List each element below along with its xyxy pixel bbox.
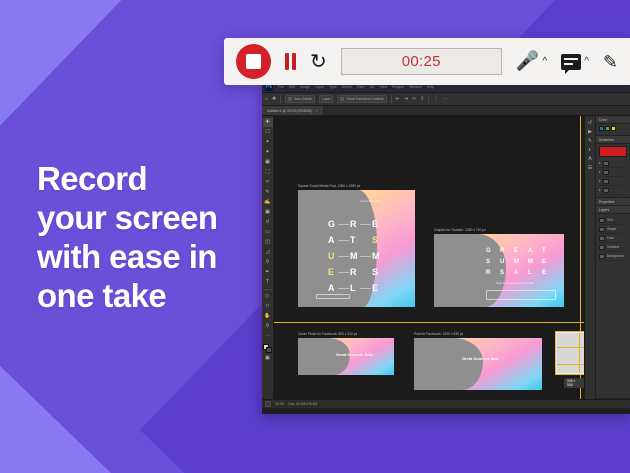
menu-image[interactable]: Image <box>300 85 310 89</box>
marquee-tool[interactable]: ☐ <box>263 128 273 137</box>
ab2-line2-s: S <box>486 259 490 265</box>
pause-bar-left <box>285 53 289 70</box>
layer-row[interactable]: Face <box>599 234 627 243</box>
options-divider-2 <box>391 95 392 103</box>
layer-thumbnail <box>599 218 605 223</box>
menu-layer[interactable]: Layer <box>315 85 324 89</box>
screen-capture-icon[interactable] <box>561 54 581 70</box>
ab1-line5-l: L <box>350 283 356 293</box>
swatch-group-row[interactable]: ▸ <box>599 177 627 186</box>
restart-recording-icon[interactable]: ↻ <box>310 52 327 72</box>
selection-guide-horizontal-2 <box>557 364 584 365</box>
artboard-cta-chip <box>486 290 556 300</box>
panel-rail[interactable]: ↺ ▶ ✎ ◐ A ☰ <box>585 116 596 399</box>
letter-connector <box>338 272 349 273</box>
layer-name: Shape <box>607 227 616 231</box>
shape-tool[interactable]: □ <box>263 302 273 311</box>
letter-connector <box>360 288 371 289</box>
selection-guide-horizontal <box>557 347 584 348</box>
swatch[interactable] <box>611 126 616 131</box>
headline-line-1: Record <box>37 160 218 199</box>
close-icon[interactable]: × <box>316 109 318 113</box>
layer-thumbnail <box>599 236 605 241</box>
ab2-line1-t: T <box>542 248 546 254</box>
layer-thumbnail <box>599 254 605 259</box>
annotation-pen-icon[interactable]: ✎ <box>603 53 618 71</box>
layer-row[interactable]: Shape <box>599 225 627 234</box>
lasso-tool[interactable]: ⚭ <box>263 138 273 147</box>
panel-dock[interactable]: ↺ ▶ ✎ ◐ A ☰ Color Swatches <box>584 116 630 399</box>
ab1-line3-m1: M <box>350 251 358 261</box>
auto-select-value[interactable]: Layer <box>319 95 333 103</box>
artboard-caption: Great Summer Sale <box>336 352 373 357</box>
swatch-group-row[interactable]: ▸ <box>599 186 627 195</box>
artboard-caption: Shop the summer collection now <box>496 282 533 285</box>
swatch-group-row[interactable]: ▸ <box>599 168 627 177</box>
layers-panel-title[interactable]: Layers <box>596 206 630 214</box>
letter-connector <box>338 288 349 289</box>
chevron-right-icon[interactable]: ▸ <box>599 188 601 192</box>
hand-tool[interactable]: ✋ <box>263 312 273 321</box>
chevron-right-icon[interactable]: ▸ <box>599 170 601 174</box>
artboard-cta-chip <box>316 294 350 299</box>
panel-stack[interactable]: Color Swatches ▸ ▸ <box>596 116 630 399</box>
eraser-tool[interactable]: ▭ <box>263 228 273 237</box>
ab2-line3-r: R <box>486 270 490 276</box>
character-icon[interactable]: A <box>588 156 591 162</box>
background-swatch[interactable] <box>266 347 272 353</box>
brush-tool[interactable]: ✍ <box>263 198 273 207</box>
ab2-line2-e: E <box>542 259 546 265</box>
recording-timer: 00:25 <box>341 48 502 75</box>
artboard-label-youtube: Graphic for Youtube: 1280 x 720 px <box>434 228 486 232</box>
ab1-line4-e: E <box>328 267 334 277</box>
letter-connector <box>338 256 349 257</box>
layer-name: Face <box>607 236 614 240</box>
home-icon[interactable]: ⌂ <box>265 96 268 102</box>
ab2-line2-m2: M <box>528 259 533 265</box>
clone-stamp-tool[interactable]: ▣ <box>263 208 273 217</box>
selected-artboard-size-badge: 508 x 508 <box>564 378 584 388</box>
menu-file[interactable]: File <box>278 85 284 89</box>
history-brush-tool[interactable]: ↺ <box>263 218 273 227</box>
ab1-line3-u: U <box>328 251 335 261</box>
ab2-line1-a: A <box>528 248 532 254</box>
move-tool-icon[interactable]: ✚ <box>272 96 276 102</box>
artboard-youtube[interactable]: G R E A T S U M M E R S A L E Shop the s… <box>434 234 564 307</box>
ab2-line3-s: S <box>500 270 504 276</box>
artboard-selected-thumbnail[interactable] <box>556 332 584 374</box>
actions-icon[interactable]: ▶ <box>588 129 592 135</box>
swatch-thumbnail <box>603 179 609 184</box>
crop-tool[interactable]: ▣ <box>263 158 273 167</box>
headline-line-4: one take <box>37 277 218 316</box>
checkbox-icon[interactable] <box>288 97 292 101</box>
layer-name: Text <box>607 218 613 222</box>
align-center-icon[interactable]: ⇥ <box>404 96 408 102</box>
swatches-panel-body[interactable]: ▸ ▸ ▸ ▸ <box>596 144 630 198</box>
swatch-thumbnail <box>603 188 609 193</box>
ab1-line3-m2: M <box>372 251 380 261</box>
ab1-line2-s: S <box>372 235 378 245</box>
ab1-line5-e: E <box>372 283 378 293</box>
stop-recording-button[interactable] <box>236 44 271 79</box>
artboard-label-fb-cover: Cover Photo for Facebook: 820 x 312 px <box>298 332 357 336</box>
layer-thumbnail <box>599 245 605 250</box>
color-panel-body[interactable] <box>596 124 630 136</box>
swatch-row[interactable] <box>599 126 627 131</box>
screen-tail <box>565 70 569 74</box>
auto-select-toggle[interactable]: Auto-Select: <box>285 95 315 103</box>
options-divider-3 <box>428 95 429 103</box>
menu-select[interactable]: Select <box>342 85 352 89</box>
dodge-tool[interactable]: ⚲ <box>263 258 273 267</box>
screen-recorder-toolbar[interactable]: ↻ 00:25 🎤 ^ ^ ✎ <box>224 38 630 85</box>
document-size: Doc: 44.2M/176.4M <box>288 402 317 406</box>
artboard-fb-post[interactable]: Great Summer Sale <box>414 338 542 390</box>
stop-square-icon <box>246 54 261 69</box>
pen-tool[interactable]: ✒ <box>263 268 273 277</box>
ab1-line2-t: T <box>350 235 356 245</box>
headline-line-3: with ease in <box>37 238 218 277</box>
ab1-line1-g: G <box>328 219 335 229</box>
ab2-line2-u: U <box>500 259 504 265</box>
zoom-level[interactable]: 33.3% <box>275 402 284 406</box>
headline: Record your screen with ease in one take <box>37 160 218 316</box>
swatch-group-row[interactable]: ▸ <box>599 159 627 168</box>
artboard-fb-cover[interactable]: Great Summer Sale <box>298 338 394 375</box>
layer-name: Gradient <box>607 245 619 249</box>
letter-connector <box>338 240 349 241</box>
pause-recording-button[interactable] <box>285 53 296 70</box>
auto-select-label: Auto-Select: <box>294 97 312 101</box>
frame-tool[interactable]: ⛶ <box>263 168 273 177</box>
letter-connector <box>338 224 349 225</box>
layer-row[interactable]: Text <box>599 216 627 225</box>
microphone-control[interactable]: 🎤 ^ <box>516 52 547 71</box>
align-top-icon[interactable]: ⇧ <box>420 96 424 102</box>
workspace: ✚ ☐ ⚭ ✦ ▣ ⛶ ✂ ✎ ✍ ▣ ↺ ▭ ◫ ◿ ⚲ ✒ T ▷ □ ✋ … <box>262 116 630 399</box>
quick-mask-icon[interactable]: ▣ <box>263 354 273 363</box>
move-tool[interactable]: ✚ <box>263 118 273 127</box>
menu-view[interactable]: View <box>379 85 387 89</box>
more-tools-icon[interactable]: ⋯ <box>263 332 273 341</box>
options-bar[interactable]: ⌂ ✚ Auto-Select: Layer Show Transform Co… <box>262 93 630 106</box>
ab2-line3-a: A <box>514 270 518 276</box>
swatch-thumbnail <box>603 161 609 166</box>
ab2-line1-r: R <box>500 248 504 254</box>
history-icon[interactable]: ↺ <box>588 120 592 126</box>
menu-plugins[interactable]: Plugins <box>392 85 404 89</box>
blur-tool[interactable]: ◿ <box>263 248 273 257</box>
microphone-icon[interactable]: 🎤 <box>516 52 540 71</box>
more-options-icon[interactable]: ⋯ <box>442 96 447 102</box>
checkbox-icon[interactable] <box>340 97 344 101</box>
menu-type[interactable]: Type <box>329 85 337 89</box>
ab1-line5-a: A <box>328 283 335 293</box>
chevron-right-icon[interactable]: ▸ <box>599 161 601 165</box>
chevron-up-icon[interactable]: ^ <box>584 57 589 67</box>
show-transform-controls-toggle[interactable]: Show Transform Controls <box>337 95 386 103</box>
comments-icon[interactable]: ✎ <box>588 138 592 144</box>
color-panel-title[interactable]: Color <box>596 116 630 124</box>
artboard-label-fb-post: Post for Facebook: 1200 x 630 px <box>414 332 463 336</box>
photoshop-window[interactable]: Ps File Edit Image Layer Type Select Fil… <box>262 82 630 414</box>
healing-brush-tool[interactable]: ✎ <box>263 188 273 197</box>
align-left-icon[interactable]: ⇤ <box>396 96 400 102</box>
selection-guide-vertical <box>579 333 580 373</box>
artboard-caption: Great Summer Sale <box>462 356 499 361</box>
magic-wand-tool[interactable]: ✦ <box>263 148 273 157</box>
letter-connector <box>360 256 371 257</box>
document-tab[interactable]: Untitled-1 @ 33.3% (RGB/8#) × <box>262 106 324 115</box>
status-bar[interactable]: 33.3% Doc: 44.2M/176.4M <box>262 399 630 408</box>
screen-source-control[interactable]: ^ <box>561 54 589 70</box>
zoom-tool[interactable]: ⚲ <box>263 322 273 331</box>
swatch-thumbnail <box>603 170 609 175</box>
tool-panel[interactable]: ✚ ☐ ⚭ ✦ ▣ ⛶ ✂ ✎ ✍ ▣ ↺ ▭ ◫ ◿ ⚲ ✒ T ▷ □ ✋ … <box>262 116 274 399</box>
menu-3d[interactable]: 3D <box>370 85 375 89</box>
layer-row[interactable]: Background <box>599 252 627 261</box>
properties-panel-title[interactable]: Properties <box>596 198 630 206</box>
swatch[interactable] <box>605 126 610 131</box>
ab2-line1-e: E <box>514 248 518 254</box>
swatches-panel-title[interactable]: Swatches <box>596 136 630 144</box>
letter-connector <box>360 224 371 225</box>
adjustments-icon[interactable]: ◐ <box>588 147 591 153</box>
guide-horizontal <box>274 322 584 323</box>
layers-panel-body[interactable]: Text Shape Face Gradient <box>596 214 630 399</box>
headline-line-2: your screen <box>37 199 218 238</box>
ab1-line4-r: R <box>350 267 357 277</box>
menu-filter[interactable]: Filter <box>357 85 365 89</box>
transform-label: Show Transform Controls <box>346 97 383 101</box>
auto-select-value-label: Layer <box>322 97 330 101</box>
libraries-icon[interactable]: ☰ <box>588 165 592 171</box>
align-right-icon[interactable]: ⇨ <box>412 96 416 102</box>
path-selection-tool[interactable]: ▷ <box>263 292 273 301</box>
ab2-line1-g: G <box>486 248 491 254</box>
layer-row[interactable]: Gradient <box>599 243 627 252</box>
pause-bar-right <box>292 53 296 70</box>
artboard-caption: Limited time offer <box>360 200 380 203</box>
gradient-tool[interactable]: ◫ <box>263 238 273 247</box>
tool-divider <box>264 289 272 290</box>
options-divider-1 <box>280 95 281 103</box>
menu-edit[interactable]: Edit <box>289 85 295 89</box>
foreground-background-color[interactable] <box>263 344 273 353</box>
distribute-icon[interactable]: ⋮ <box>433 96 438 102</box>
ab1-line4-s: S <box>372 267 378 277</box>
eyedropper-tool[interactable]: ✂ <box>263 178 273 187</box>
face-silhouette <box>432 338 542 390</box>
layer-thumbnail <box>599 227 605 232</box>
menu-window[interactable]: Window <box>409 85 422 89</box>
chevron-right-icon[interactable]: ▸ <box>599 179 601 183</box>
swatch[interactable] <box>599 126 604 131</box>
menu-help[interactable]: Help <box>427 85 434 89</box>
ab2-line3-e: E <box>542 270 546 276</box>
document-tab-title: Untitled-1 @ 33.3% (RGB/8#) <box>267 109 312 113</box>
ab1-line1-e: E <box>372 219 378 229</box>
canvas-area[interactable]: Square Social Media Post, 1080 x 1080 px… <box>274 116 584 399</box>
chevron-up-icon[interactable]: ^ <box>543 57 548 67</box>
ab2-line2-m1: M <box>514 259 519 265</box>
document-tab-bar[interactable]: Untitled-1 @ 33.3% (RGB/8#) × <box>262 106 630 116</box>
type-tool[interactable]: T <box>263 278 273 287</box>
active-color-swatch[interactable] <box>599 146 627 157</box>
artboard-square-post[interactable]: Limited time offer G R E A T S U M M E R… <box>298 190 415 307</box>
artboard-label-square-post: Square Social Media Post, 1080 x 1080 px <box>298 184 360 188</box>
ab1-line1-r: R <box>350 219 357 229</box>
preview-icon[interactable] <box>265 401 271 407</box>
ab1-line2-a: A <box>328 235 335 245</box>
layer-name: Background <box>607 254 624 258</box>
ab2-line3-l: L <box>528 270 532 276</box>
